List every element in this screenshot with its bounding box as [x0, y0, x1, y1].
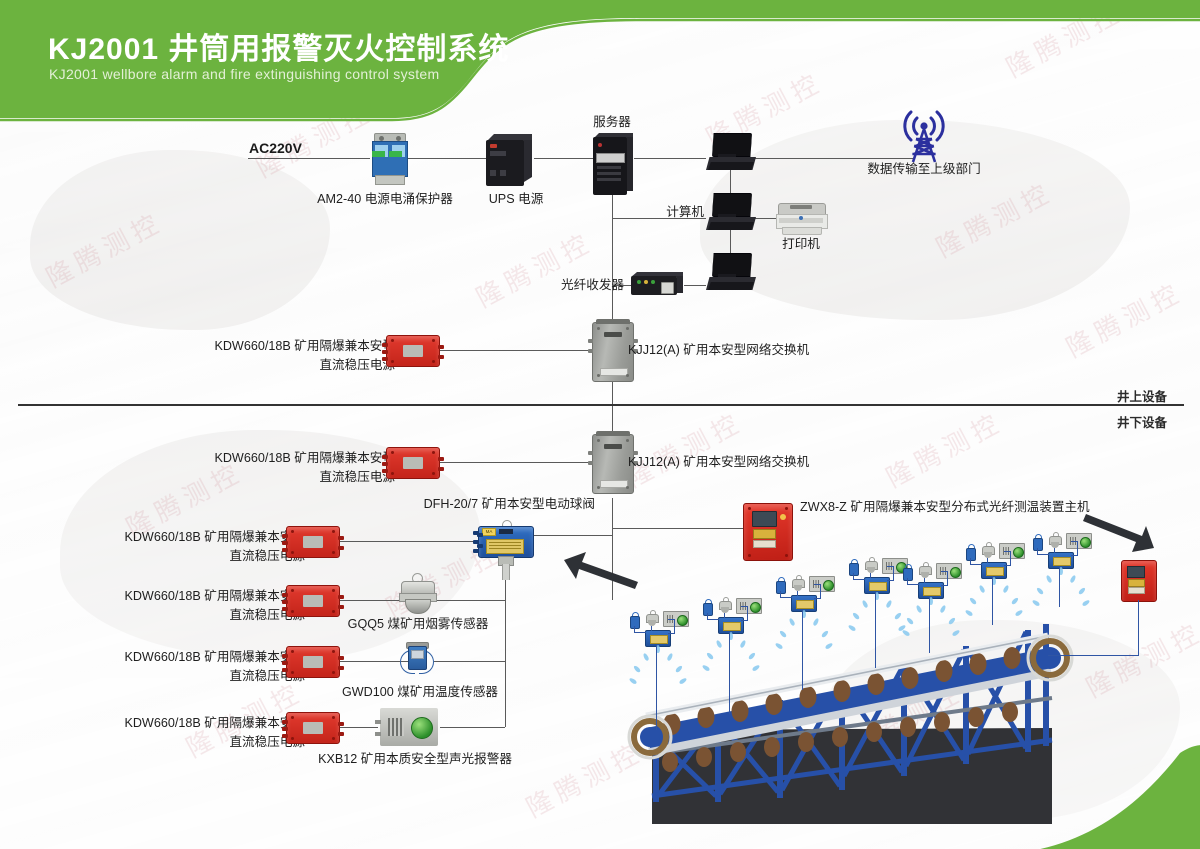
- valve-label: DFH-20/7 矿用本安型电动球阀: [265, 495, 595, 514]
- water-spray: [903, 597, 963, 639]
- wire-power-row4: [338, 727, 378, 728]
- underground-power-label-3: KDW660/18B 矿用隔爆兼本安型 直流稳压电源: [75, 648, 305, 686]
- spray-riser: [1059, 567, 1060, 607]
- fiber-host-field-unit-icon: [1121, 560, 1157, 602]
- power-label-line1: KDW660/18B 矿用隔爆兼本安型: [124, 716, 305, 730]
- spray-riser: [729, 632, 730, 714]
- power-supply-icon: [386, 335, 440, 367]
- surface-power-label-line1: KDW660/18B 矿用隔爆兼本安型: [214, 339, 395, 353]
- power-supply-icon: [286, 585, 340, 617]
- audible-visual-alarm-icon: [736, 598, 762, 614]
- wire-fieldhost-down: [1138, 600, 1139, 655]
- underground-power-label-0: KDW660/18B 矿用隔爆兼本安型 直流稳压电源: [165, 449, 395, 487]
- audible-visual-alarm-icon: [380, 708, 442, 748]
- spray-riser: [875, 592, 876, 668]
- power-label-line1: KDW660/18B 矿用隔爆兼本安型: [124, 589, 305, 603]
- power-supply-icon: [286, 526, 340, 558]
- spray-riser: [656, 645, 657, 730]
- fiber-host-label: ZWX8-Z 矿用隔爆兼本安型分布式光纤测温装置主机: [800, 498, 1090, 517]
- below-ground-label: 井下设备: [1117, 412, 1167, 431]
- audible-visual-alarm-icon: [999, 543, 1025, 559]
- wire-switch2-to-fiberhost: [613, 528, 743, 529]
- wire-power2-to-switch2: [440, 462, 595, 463]
- power-supply-icon: [386, 447, 440, 479]
- smoke-sensor-icon: [397, 573, 437, 613]
- wire-ups-to-server: [534, 158, 594, 159]
- wire-smoke-to-column: [437, 600, 505, 601]
- wire-alarm-to-column: [440, 727, 505, 728]
- spray-riser: [992, 577, 993, 625]
- spray-riser: [802, 610, 803, 690]
- underground-power-label-1: KDW660/18B 矿用隔爆兼本安型 直流稳压电源: [75, 528, 305, 566]
- uplink-label: 数据传输至上级部门: [849, 160, 999, 179]
- wire-converter-to-pc3: [684, 285, 706, 286]
- above-ground-label: 井上设备: [1117, 386, 1167, 405]
- wire-power-row3: [338, 661, 408, 662]
- power-label-line1: KDW660/18B 矿用隔爆兼本安型: [124, 530, 305, 544]
- water-spray: [776, 610, 836, 652]
- power-supply-icon: [286, 712, 340, 744]
- water-spray: [966, 577, 1026, 619]
- wire-ac-bus: [248, 158, 370, 159]
- water-spray: [1033, 567, 1093, 609]
- server-label: 服务器: [573, 113, 651, 132]
- surface-power-label: KDW660/18B 矿用隔爆兼本安型 直流稳压电源: [165, 337, 395, 375]
- audible-visual-alarm-icon: [1066, 533, 1092, 549]
- water-spray: [630, 645, 690, 687]
- spray-riser: [929, 597, 930, 653]
- wire-pc2-to-printer: [754, 218, 776, 219]
- audible-visual-alarm-icon: [663, 611, 689, 627]
- wire-switch-surface-down: [612, 378, 613, 406]
- wire-temp-to-column: [434, 661, 505, 662]
- underground-power-label-2: KDW660/18B 矿用隔爆兼本安型 直流稳压电源: [75, 587, 305, 625]
- diagram-canvas: 隆腾测控 隆腾测控 隆腾测控 隆腾测控 隆腾测控 隆腾测控 隆腾测控 隆腾测控 …: [0, 0, 1200, 849]
- audible-visual-alarm-icon: [936, 563, 962, 579]
- ups-label: UPS 电源: [470, 190, 562, 209]
- temperature-sensor-label: GWD100 煤矿用温度传感器: [330, 683, 510, 702]
- wire-server-to-pc1: [634, 158, 706, 159]
- alarm-label: KXB12 矿用本质安全型声光报警器: [300, 750, 530, 769]
- page-subtitle: KJ2001 wellbore alarm and fire extinguis…: [49, 66, 439, 82]
- antenna-icon: [890, 96, 958, 164]
- power-supply-icon: [286, 646, 340, 678]
- computer-label: 计算机: [620, 203, 704, 222]
- underground-switch-label: KJJ12(A) 矿用本安型网络交换机: [628, 453, 809, 472]
- power-label-line1: KDW660/18B 矿用隔爆兼本安型: [124, 650, 305, 664]
- printer-label: 打印机: [761, 235, 841, 254]
- ac-input-label: AC220V: [249, 140, 302, 156]
- underground-power-label-4: KDW660/18B 矿用隔爆兼本安型 直流稳压电源: [75, 714, 305, 752]
- wire-fieldhost-to-pulley: [1048, 655, 1139, 656]
- wire-spd-to-ups: [408, 158, 486, 159]
- surface-switch-label: KJJ12(A) 矿用本安型网络交换机: [628, 341, 809, 360]
- power-label-line1: KDW660/18B 矿用隔爆兼本安型: [214, 451, 395, 465]
- ground-level-divider: [18, 404, 1184, 406]
- temperature-sensor-icon: [400, 640, 434, 678]
- wire-surface-power-to-switch: [440, 350, 595, 351]
- audible-visual-alarm-icon: [809, 576, 835, 592]
- media-converter-label: 光纤收发器: [508, 276, 624, 295]
- smoke-sensor-label: GQQ5 煤矿用烟雾传感器: [338, 615, 498, 634]
- surge-protector-label: AM2-40 电源电涌保护器: [305, 190, 465, 209]
- water-spray: [703, 632, 763, 674]
- page-title: KJ2001 井筒用报警灭火控制系统: [48, 24, 509, 68]
